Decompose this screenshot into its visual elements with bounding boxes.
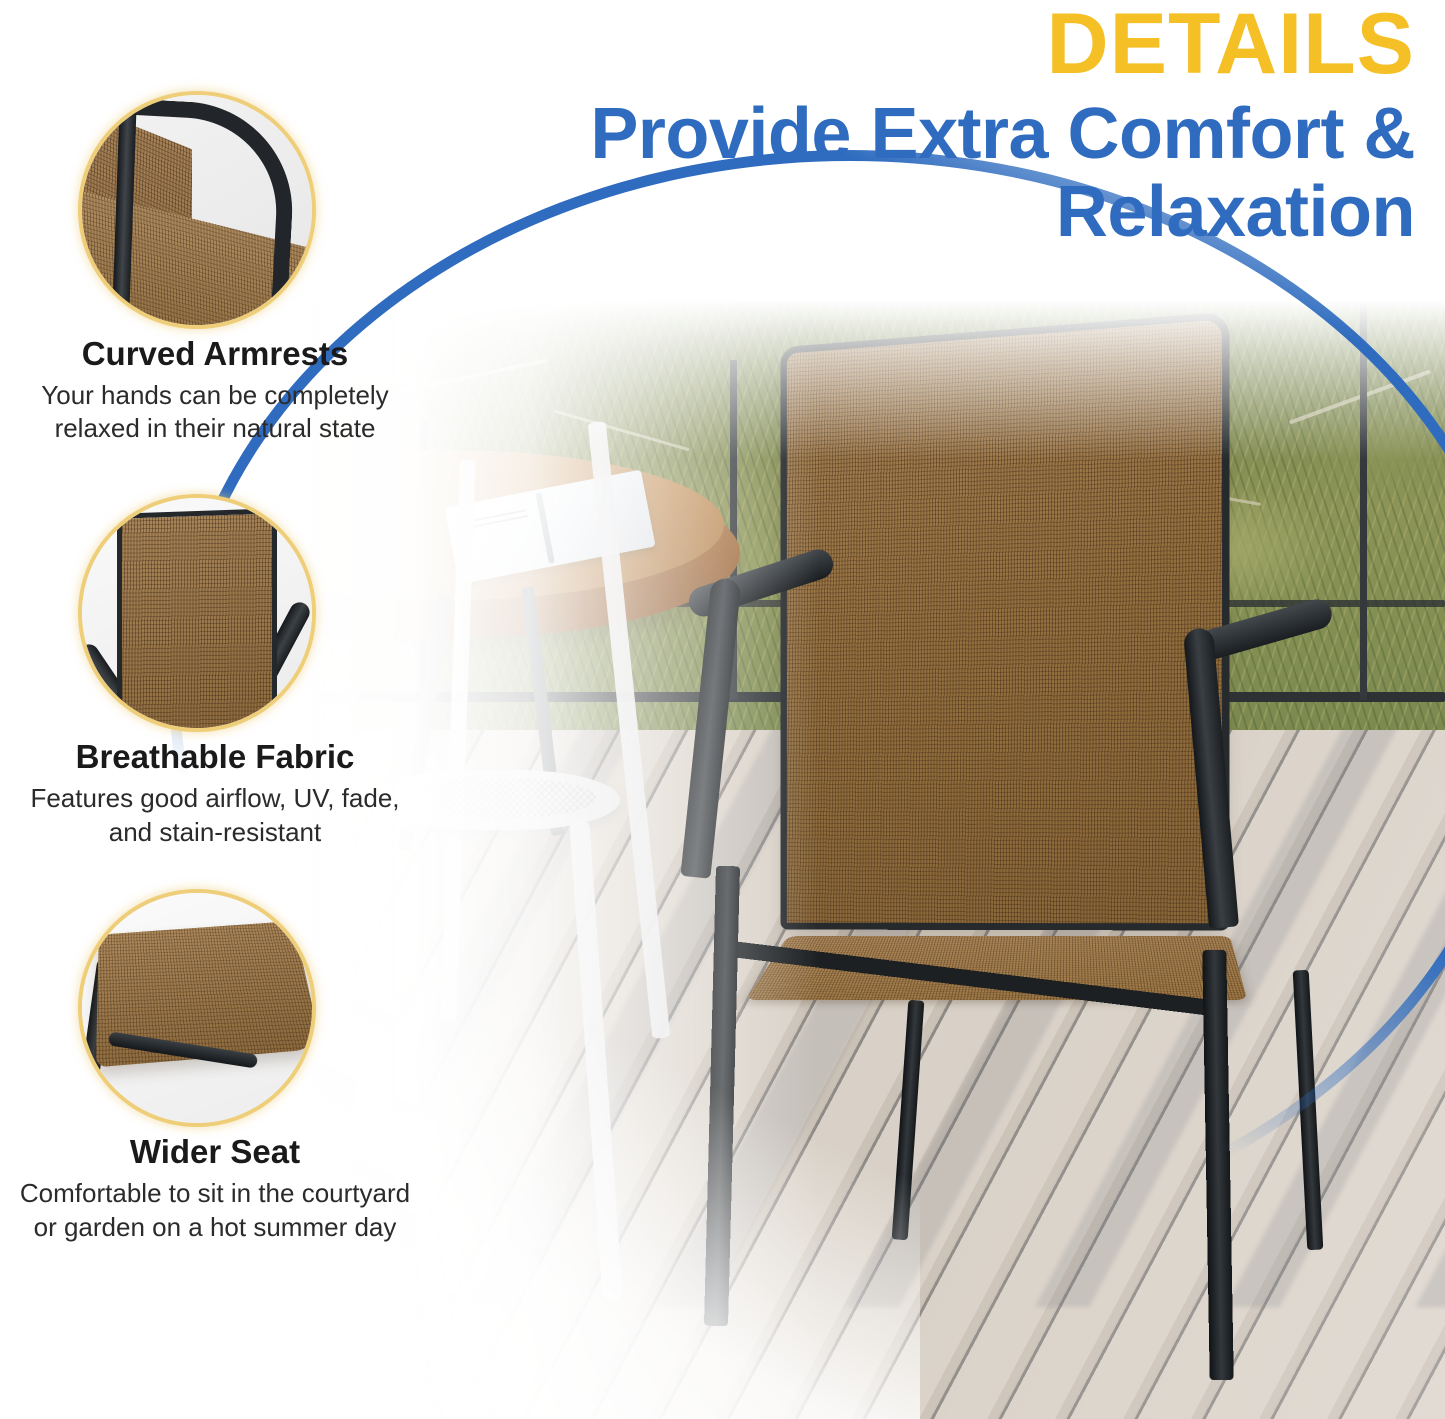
feature-wider-seat: Wider Seat Comfortable to sit in the cou…: [0, 893, 430, 1244]
feature-desc-line-2: relaxed in their natural state: [6, 412, 424, 446]
feature-curved-armrests: Curved Armrests Your hands can be comple…: [0, 95, 430, 446]
feature-description: Features good airflow, UV, fade, and sta…: [0, 782, 430, 850]
feature-desc-line-2: and stain-resistant: [6, 816, 424, 850]
callout-seat-closeup: [82, 893, 312, 1123]
callout-fabric-closeup: [82, 498, 312, 728]
infographic-page: DETAILS Provide Extra Comfort & Relaxati…: [0, 0, 1445, 1419]
feature-title: Curved Armrests: [0, 335, 430, 373]
feature-desc-line-1: Your hands can be completely: [6, 379, 424, 413]
closeup-fabric-panel: [122, 514, 272, 729]
headline-line-1: Provide Extra Comfort &: [325, 96, 1415, 174]
feature-description: Comfortable to sit in the courtyard or g…: [0, 1177, 430, 1245]
headline-line-2: Relaxation: [325, 174, 1415, 252]
feature-breathable-fabric: Breathable Fabric Features good airflow,…: [0, 498, 430, 849]
page-title: Provide Extra Comfort & Relaxation: [325, 86, 1415, 252]
feature-description: Your hands can be completely relaxed in …: [0, 379, 430, 447]
callout-armrest-closeup: [82, 95, 312, 325]
feature-list: Curved Armrests Your hands can be comple…: [0, 95, 430, 1269]
feature-desc-line-2: or garden on a hot summer day: [6, 1211, 424, 1245]
header: DETAILS Provide Extra Comfort & Relaxati…: [325, 0, 1415, 252]
eyebrow-details: DETAILS: [325, 0, 1415, 86]
feature-desc-line-1: Comfortable to sit in the courtyard: [6, 1177, 424, 1211]
feature-title: Breathable Fabric: [0, 738, 430, 776]
fabric-backrest-closeup-photo: [82, 498, 312, 728]
feature-desc-line-1: Features good airflow, UV, fade,: [6, 782, 424, 816]
seat-closeup-photo: [82, 893, 312, 1123]
feature-title: Wider Seat: [0, 1133, 430, 1171]
armrest-closeup-photo: [82, 95, 312, 325]
